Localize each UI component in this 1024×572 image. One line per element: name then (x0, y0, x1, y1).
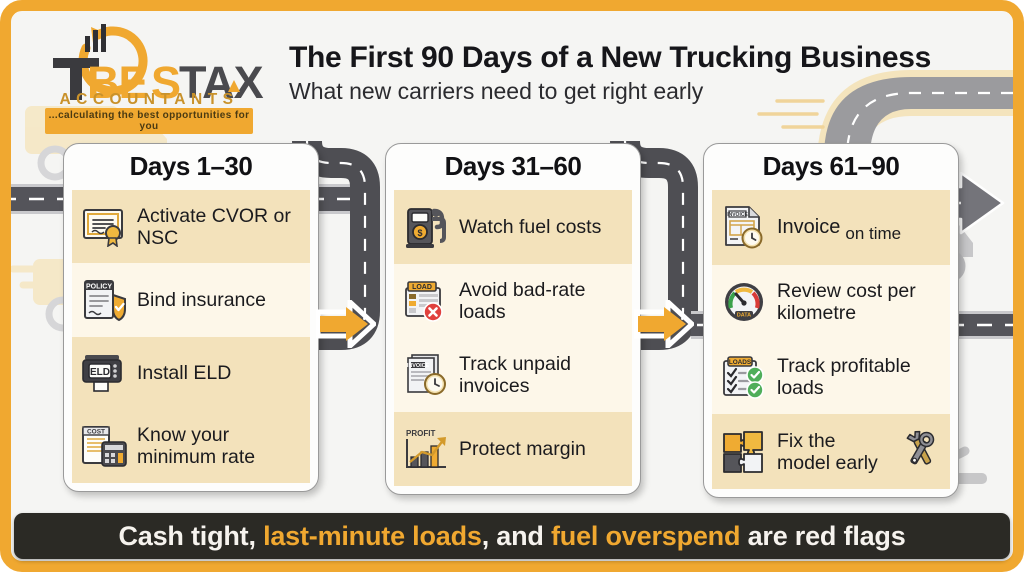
puzzle-icon (719, 427, 769, 477)
svg-text:INVOICE: INVOICE (727, 212, 748, 218)
fuel-pump-icon: $ (401, 202, 451, 252)
list-item[interactable]: LOADS Track (712, 340, 950, 415)
card-title-1: Days 1–30 (64, 144, 318, 190)
list-item[interactable]: LOAD Avoid bad-rate loads (394, 264, 632, 338)
list-item[interactable]: Fix the model early (712, 414, 950, 489)
banner-highlight-1: last-minute loads (263, 521, 482, 551)
list-item[interactable]: DATA Review cost per kilometre (712, 265, 950, 340)
card-rows-2: $ Watch fuel costs (386, 190, 640, 494)
svg-text:POLICY: POLICY (86, 283, 112, 290)
list-item-label: Review cost per kilometre (777, 280, 943, 324)
banner-highlight-2: fuel overspend (551, 521, 740, 551)
arrow-connector-2 (634, 300, 694, 348)
svg-text:DATA: DATA (737, 313, 751, 319)
list-item-label: Track unpaid invoices (459, 353, 625, 397)
list-item[interactable]: POLICY Bind insurance (72, 263, 310, 336)
page-subtitle: What new carriers need to get right earl… (289, 79, 931, 104)
svg-text:LOADS: LOADS (729, 359, 752, 366)
tools-wrench-icon (899, 429, 943, 474)
eld-device-icon: ELD (79, 348, 129, 398)
card-title-3: Days 61–90 (704, 144, 958, 190)
loads-checklist-icon: LOADS (719, 352, 769, 402)
list-item-label: Fix the model early (777, 430, 891, 474)
banner-part-2: , and (482, 521, 551, 551)
bestax-accountants-logo[interactable]: BE S TAX ACCOUNTANTS ...calculating the … (23, 18, 271, 128)
policy-shield-icon: POLICY (79, 275, 129, 325)
invoice-label-sub: on time (845, 224, 901, 243)
list-item-label: Track profitable loads (777, 355, 943, 399)
title-block: The First 90 Days of a New Trucking Busi… (289, 42, 931, 105)
list-item[interactable]: INVOICE (712, 190, 950, 265)
logo-accountants-text: ACCOUNTANTS (31, 91, 267, 109)
banner-part-3: are red flags (740, 521, 905, 551)
list-item-label: Invoice on time (777, 216, 901, 239)
cost-calculator-icon: COST (79, 421, 129, 471)
svg-text:INVOICE: INVOICE (407, 363, 430, 369)
list-item[interactable]: COST (72, 410, 310, 483)
invoice-clock-icon: INVOICE (401, 350, 451, 400)
list-item[interactable]: Activate CVOR or NSC (72, 190, 310, 263)
profit-chart-icon: PROFIT (401, 424, 451, 474)
list-item-label: Protect margin (459, 438, 586, 460)
card-days-31-60[interactable]: Days 31–60 $ (385, 143, 641, 495)
list-item-label: Avoid bad-rate loads (459, 279, 625, 323)
bottom-banner: Cash tight, last-minute loads, and fuel … (14, 513, 1010, 559)
list-item-label: Bind insurance (137, 289, 266, 311)
list-item-label: Know your minimum rate (137, 424, 303, 468)
list-item[interactable]: ELD Install ELD (72, 337, 310, 410)
svg-text:ELD: ELD (90, 367, 110, 378)
svg-text:$: $ (417, 228, 422, 238)
list-item[interactable]: PROFIT Protect margin (394, 412, 632, 486)
list-item[interactable]: $ Watch fuel costs (394, 190, 632, 264)
list-item-label: Watch fuel costs (459, 216, 601, 238)
svg-text:COST: COST (87, 429, 105, 436)
banner-part-1: Cash tight, (118, 521, 263, 551)
card-rows-3: INVOICE (704, 190, 958, 497)
arrow-connector-1 (316, 300, 376, 348)
header: BE S TAX ACCOUNTANTS ...calculating the … (11, 11, 1013, 135)
list-item-label: Install ELD (137, 362, 231, 384)
page-title: The First 90 Days of a New Trucking Busi… (289, 42, 931, 74)
load-reject-icon: LOAD (401, 276, 451, 326)
card-days-61-90[interactable]: Days 61–90 INVOICE (703, 143, 959, 498)
infographic-canvas: BE S TAX ACCOUNTANTS ...calculating the … (0, 0, 1024, 572)
banner-text: Cash tight, last-minute loads, and fuel … (118, 521, 905, 552)
certificate-icon (79, 202, 129, 252)
card-title-2: Days 31–60 (386, 144, 640, 190)
invoice-label-main: Invoice (777, 216, 840, 239)
gauge-data-icon: DATA (719, 277, 769, 327)
invoice-document-clock-icon: INVOICE (719, 202, 769, 252)
svg-text:PROFIT: PROFIT (406, 429, 435, 438)
phase-cards: Days 1–30 (0, 143, 1024, 495)
card-days-1-30[interactable]: Days 1–30 (63, 143, 319, 492)
list-item-label: Activate CVOR or NSC (137, 205, 303, 249)
list-item[interactable]: INVOICE Track unpaid invoices (394, 338, 632, 412)
svg-text:LOAD: LOAD (412, 284, 432, 291)
logo-tagline: ...calculating the best opportunities fo… (45, 108, 253, 134)
card-rows-1: Activate CVOR or NSC POLICY (64, 190, 318, 491)
